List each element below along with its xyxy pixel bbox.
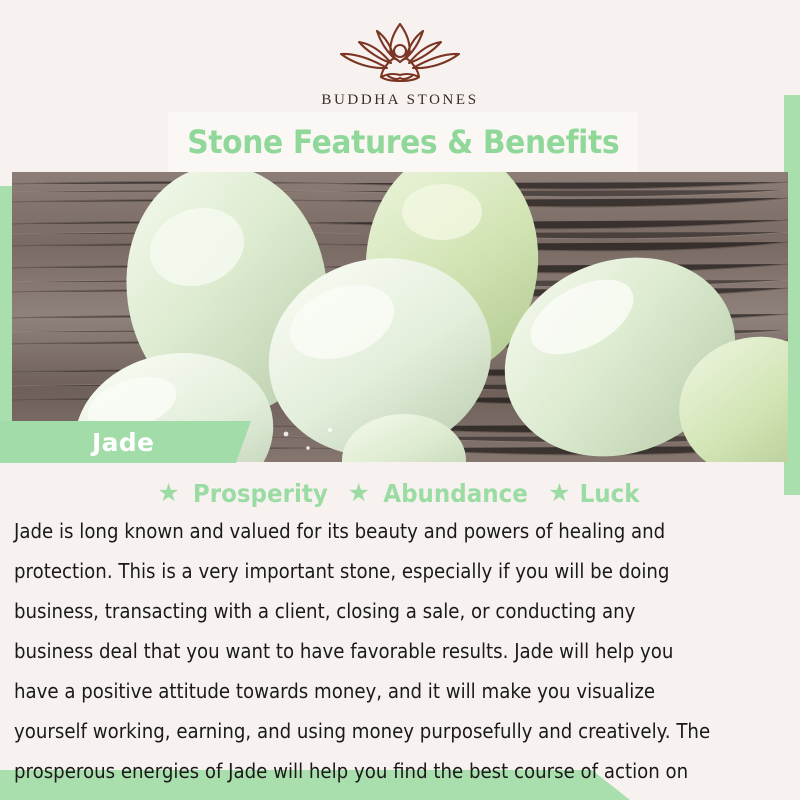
stone-name: Jade [0, 428, 154, 457]
stone-name-bar: Jade [0, 421, 251, 463]
star-icon: ★ [347, 481, 369, 506]
lotus-meditation-icon [325, 18, 475, 88]
title-plate: Stone Features & Benefits [168, 112, 638, 172]
jade-stones-photo [12, 172, 788, 462]
stone-info-card: BUDDHA STONES [0, 0, 800, 800]
benefit-label: Prosperity [193, 479, 328, 508]
benefit-label: Luck [580, 479, 640, 508]
benefit-item-luck: ★ Luck [548, 479, 643, 508]
star-icon: ★ [548, 481, 570, 506]
benefits-row: ★ Prosperity ★ Abundance ★ Luck [0, 479, 800, 508]
benefit-item-prosperity: ★ Prosperity [157, 479, 333, 508]
star-icon: ★ [157, 481, 179, 506]
stone-description: Jade is long known and valued for its be… [14, 511, 712, 800]
brand-logo-block: BUDDHA STONES [0, 18, 800, 109]
brand-name: BUDDHA STONES [0, 92, 800, 109]
benefit-label: Abundance [383, 479, 528, 508]
benefit-item-abundance: ★ Abundance [347, 479, 534, 508]
page-title: Stone Features & Benefits [187, 123, 619, 161]
